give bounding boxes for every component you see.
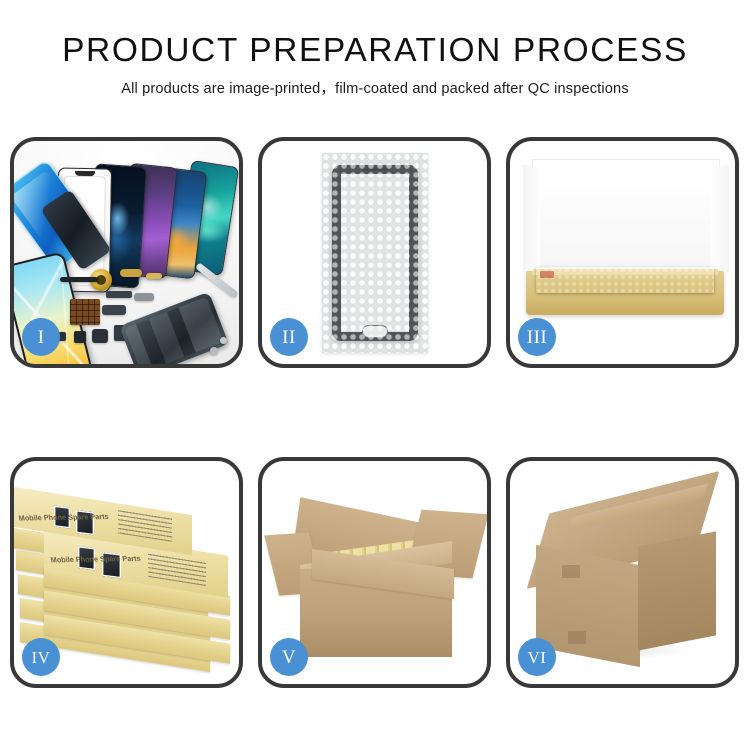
phone-glass-panel xyxy=(332,165,418,341)
step-badge-5: V xyxy=(270,638,308,676)
spare-part-metal-shield xyxy=(134,293,154,301)
page-subtitle: All products are image-printed，film-coat… xyxy=(0,82,750,97)
box-brand-text-1: Mobile Phone Spare Parts xyxy=(18,512,109,523)
step-badge-1: I xyxy=(22,318,60,356)
step-badge-3: III xyxy=(518,318,556,356)
process-step-panel-4: Mobile Phone Spare Parts Mobile Phone Sp… xyxy=(10,457,243,688)
process-step-panel-2: II xyxy=(258,137,491,368)
process-step-panel-3: III xyxy=(506,137,739,368)
header: PRODUCT PREPARATION PROCESS All products… xyxy=(0,34,750,96)
box-brand-text-2: Mobile Phone Spare Parts xyxy=(50,554,141,565)
copper-grid-chip xyxy=(70,299,100,325)
spare-part-screw-b xyxy=(210,347,218,355)
step-badge-4: IV xyxy=(22,638,60,676)
box-spec-lines-2 xyxy=(148,551,206,586)
page-title: PRODUCT PREPARATION PROCESS xyxy=(0,34,750,68)
sealed-carton-right-side xyxy=(638,531,716,650)
step-badge-2: II xyxy=(270,318,308,356)
process-step-panel-6: VI xyxy=(506,457,739,688)
spare-part-gold-clip xyxy=(146,273,162,279)
spare-part-chip-b xyxy=(92,329,108,343)
step-badge-6: VI xyxy=(518,638,556,676)
spare-part-bracket xyxy=(102,305,126,315)
carton-tab-upper xyxy=(562,565,580,578)
process-step-panel-1: I xyxy=(10,137,243,368)
spare-part-strip xyxy=(60,277,98,282)
bubble-wrap-sheet xyxy=(322,153,428,353)
white-foam-insert xyxy=(540,191,710,275)
spare-part-chip-a xyxy=(74,331,86,343)
product-preparation-infographic: PRODUCT PREPARATION PROCESS All products… xyxy=(0,0,750,750)
process-step-grid: I II III xyxy=(10,137,740,688)
carton-tab-lower xyxy=(568,631,586,644)
spare-part-flex-cable xyxy=(106,291,132,298)
wrapped-screen-in-box xyxy=(536,267,714,293)
spare-part-screw-c xyxy=(220,337,227,344)
spare-part-gold-connector xyxy=(120,269,142,277)
box-spec-lines-1 xyxy=(118,509,172,542)
process-step-panel-5: V xyxy=(258,457,491,688)
